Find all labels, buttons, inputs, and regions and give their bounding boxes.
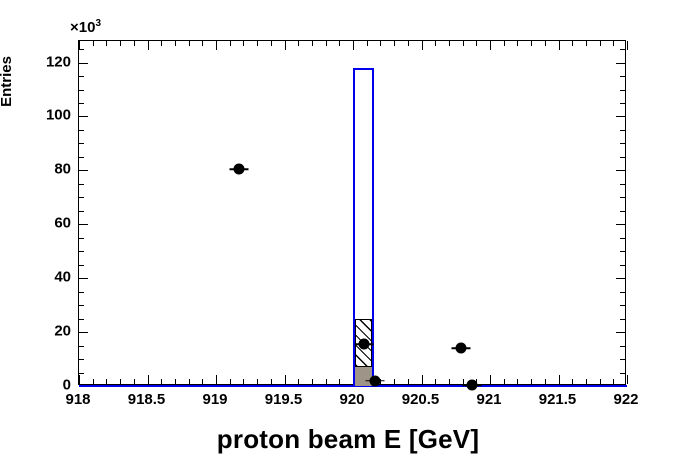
y-axis-minor-tick [620, 373, 625, 374]
y-axis-tick-label: 20 [0, 323, 71, 340]
x-axis-major-tick [79, 41, 80, 50]
y-axis-multiplier-exponent: 3 [95, 18, 101, 29]
x-axis-major-tick [148, 41, 149, 50]
x-axis-minor-tick [326, 41, 327, 46]
y-axis-minor-tick [620, 359, 625, 360]
x-axis-minor-tick [257, 379, 258, 384]
x-axis-minor-tick [257, 41, 258, 46]
y-axis-minor-tick [79, 373, 84, 374]
x-axis-major-tick [285, 41, 286, 50]
y-axis-major-tick [79, 170, 88, 171]
x-axis-major-tick [559, 41, 560, 50]
x-axis-minor-tick [93, 379, 94, 384]
y-axis-minor-tick [620, 49, 625, 50]
y-axis-minor-tick [79, 319, 84, 320]
x-axis-tick-label: 918 [65, 391, 90, 408]
x-axis-major-tick [79, 375, 80, 384]
x-axis-minor-tick [271, 379, 272, 384]
y-axis-major-tick [79, 224, 88, 225]
x-axis-minor-tick [600, 41, 601, 46]
y-axis-minor-tick [79, 184, 84, 185]
y-axis-minor-tick [620, 292, 625, 293]
x-axis-minor-tick [394, 379, 395, 384]
x-axis-minor-tick [189, 41, 190, 46]
x-axis-minor-tick [271, 41, 272, 46]
x-axis-tick-label: 919 [202, 391, 227, 408]
y-axis-major-tick [79, 63, 88, 64]
x-axis-minor-tick [93, 41, 94, 46]
x-axis-major-tick [559, 375, 560, 384]
y-axis-minor-tick [620, 305, 625, 306]
x-axis-minor-tick [449, 41, 450, 46]
x-axis-minor-tick [504, 41, 505, 46]
x-axis-major-tick [627, 375, 628, 384]
x-axis-minor-tick [504, 379, 505, 384]
x-axis-minor-tick [586, 379, 587, 384]
x-axis-minor-tick [339, 379, 340, 384]
x-axis-minor-tick [613, 379, 614, 384]
x-axis-minor-tick [408, 379, 409, 384]
y-axis-major-tick [616, 278, 625, 279]
y-axis-minor-tick [79, 90, 84, 91]
data-point-marker [369, 375, 380, 386]
x-axis-tick-label: 920.5 [402, 391, 440, 408]
x-axis-major-tick [627, 41, 628, 50]
y-axis-tick-label: 40 [0, 269, 71, 286]
y-axis-major-tick [616, 224, 625, 225]
x-axis-minor-tick [435, 379, 436, 384]
y-axis-minor-tick [79, 197, 84, 198]
y-axis-minor-tick [620, 143, 625, 144]
y-axis-minor-tick [620, 265, 625, 266]
x-axis-minor-tick [545, 41, 546, 46]
x-axis-minor-tick [572, 41, 573, 46]
y-axis-minor-tick [620, 103, 625, 104]
y-axis-minor-tick [620, 130, 625, 131]
y-axis-tick-label: 0 [0, 377, 71, 394]
x-axis-minor-tick [435, 41, 436, 46]
y-axis-minor-tick [79, 76, 84, 77]
y-axis-multiplier: ×103 [70, 18, 101, 36]
x-axis-minor-tick [545, 379, 546, 384]
x-axis-minor-tick [230, 379, 231, 384]
x-axis-minor-tick [572, 379, 573, 384]
x-axis-minor-tick [394, 41, 395, 46]
y-axis-tick-label: 120 [0, 53, 71, 70]
y-axis-major-tick [616, 170, 625, 171]
y-axis-minor-tick [79, 103, 84, 104]
y-axis-minor-tick [620, 346, 625, 347]
x-axis-major-tick [353, 41, 354, 50]
x-axis-major-tick [216, 375, 217, 384]
y-axis-minor-tick [79, 305, 84, 306]
x-axis-major-tick [422, 41, 423, 50]
x-axis-tick-label: 919.5 [265, 391, 303, 408]
y-axis-minor-tick [620, 76, 625, 77]
y-axis-tick-label: 60 [0, 215, 71, 232]
y-axis-minor-tick [79, 251, 84, 252]
data-point-marker [456, 343, 467, 354]
y-axis-major-tick [616, 116, 625, 117]
x-axis-minor-tick [476, 41, 477, 46]
x-axis-minor-tick [120, 41, 121, 46]
y-axis-tick-label: 100 [0, 107, 71, 124]
y-axis-minor-tick [79, 130, 84, 131]
x-axis-minor-tick [298, 379, 299, 384]
x-axis-minor-tick [339, 41, 340, 46]
y-axis-major-tick [616, 63, 625, 64]
y-axis-minor-tick [620, 211, 625, 212]
y-axis-minor-tick [79, 265, 84, 266]
y-axis-minor-tick [79, 238, 84, 239]
x-axis-minor-tick [106, 379, 107, 384]
x-axis-minor-tick [230, 41, 231, 46]
data-point-marker [467, 380, 478, 391]
x-axis-tick-label: 921 [476, 391, 501, 408]
x-axis-minor-tick [161, 379, 162, 384]
x-axis-title: proton beam E [GeV] [0, 424, 696, 455]
x-axis-minor-tick [134, 41, 135, 46]
x-axis-minor-tick [380, 41, 381, 46]
x-axis-minor-tick [243, 41, 244, 46]
x-axis-minor-tick [202, 379, 203, 384]
y-axis-minor-tick [620, 184, 625, 185]
y-axis-minor-tick [79, 157, 84, 158]
x-axis-minor-tick [243, 379, 244, 384]
x-axis-minor-tick [586, 41, 587, 46]
x-axis-minor-tick [600, 379, 601, 384]
x-axis-major-tick [490, 375, 491, 384]
y-axis-multiplier-base: ×10 [70, 19, 95, 36]
x-axis-major-tick [490, 41, 491, 50]
y-axis-minor-tick [79, 143, 84, 144]
x-axis-minor-tick [326, 379, 327, 384]
y-axis-minor-tick [79, 211, 84, 212]
x-axis-minor-tick [189, 379, 190, 384]
x-axis-minor-tick [298, 41, 299, 46]
x-axis-major-tick [148, 375, 149, 384]
x-axis-minor-tick [120, 379, 121, 384]
x-axis-minor-tick [134, 379, 135, 384]
x-axis-minor-tick [175, 379, 176, 384]
x-axis-minor-tick [408, 41, 409, 46]
y-axis-major-tick [79, 116, 88, 117]
x-axis-minor-tick [449, 379, 450, 384]
x-axis-tick-label: 922 [613, 391, 638, 408]
x-axis-minor-tick [175, 41, 176, 46]
y-axis-major-tick [616, 332, 625, 333]
x-axis-minor-tick [517, 379, 518, 384]
x-axis-minor-tick [463, 41, 464, 46]
x-axis-tick-label: 920 [339, 391, 364, 408]
y-axis-minor-tick [620, 157, 625, 158]
x-axis-minor-tick [312, 41, 313, 46]
x-axis-minor-tick [463, 379, 464, 384]
y-axis-major-tick [79, 278, 88, 279]
x-axis-minor-tick [613, 41, 614, 46]
y-axis-tick-label: 80 [0, 161, 71, 178]
x-axis-minor-tick [312, 379, 313, 384]
x-axis-major-tick [216, 41, 217, 50]
x-axis-minor-tick [106, 41, 107, 46]
x-axis-major-tick [285, 375, 286, 384]
x-axis-tick-label: 921.5 [539, 391, 577, 408]
y-axis-minor-tick [620, 197, 625, 198]
x-axis-minor-tick [531, 41, 532, 46]
x-axis-major-tick [422, 375, 423, 384]
chart-canvas: Entries ×103 proton beam E [GeV] 0204060… [0, 0, 696, 472]
y-axis-minor-tick [79, 359, 84, 360]
plot-area [78, 40, 626, 385]
x-axis-minor-tick [517, 41, 518, 46]
x-axis-minor-tick [367, 41, 368, 46]
x-axis-tick-label: 918.5 [128, 391, 166, 408]
data-point-marker [358, 339, 369, 350]
y-axis-minor-tick [79, 292, 84, 293]
y-axis-minor-tick [620, 90, 625, 91]
x-axis-minor-tick [161, 41, 162, 46]
y-axis-minor-tick [79, 346, 84, 347]
y-axis-major-tick [79, 332, 88, 333]
x-axis-minor-tick [531, 379, 532, 384]
data-point-marker [234, 164, 245, 175]
y-axis-minor-tick [620, 251, 625, 252]
y-axis-minor-tick [620, 238, 625, 239]
y-axis-minor-tick [620, 319, 625, 320]
x-axis-minor-tick [202, 41, 203, 46]
